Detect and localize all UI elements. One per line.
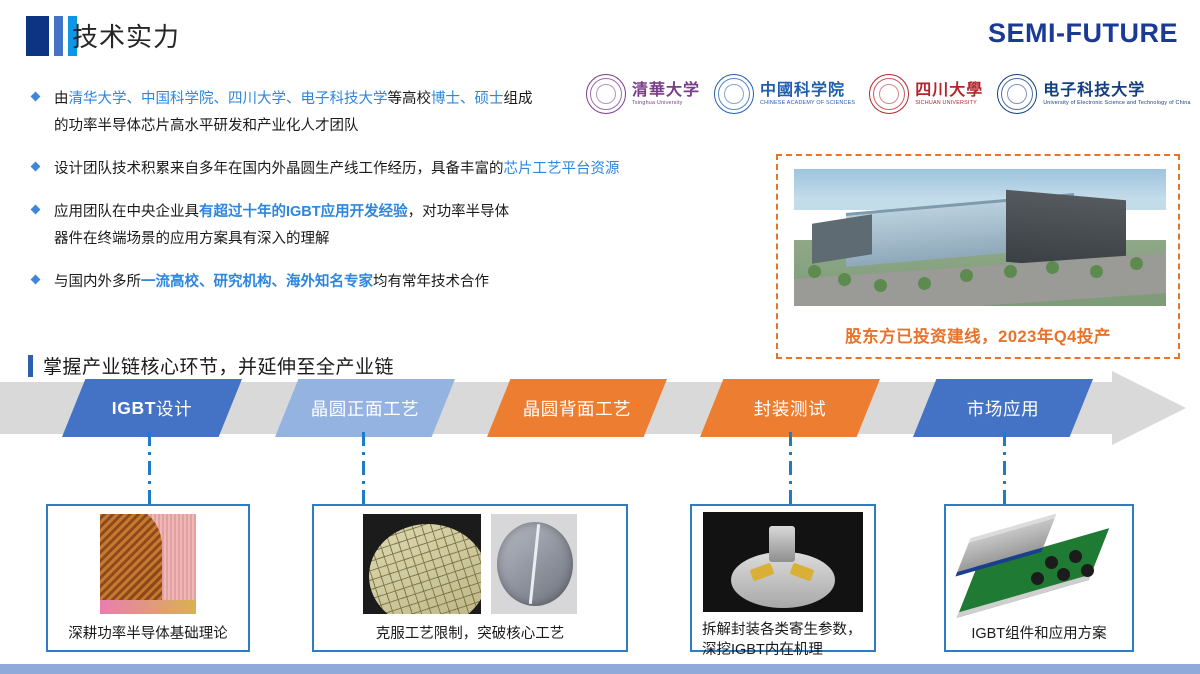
tree-icon xyxy=(1130,257,1143,270)
connector-segment xyxy=(1003,432,1006,446)
header-bar-dark-icon xyxy=(26,16,49,56)
university-name-cn: 清華大学 xyxy=(632,82,700,98)
fab-investment-panel: 股东方已投资建线，2023年Q4投产 xyxy=(776,154,1180,359)
university-seal-icon xyxy=(714,74,754,114)
process-arrow-head-icon xyxy=(1112,371,1186,445)
bullet-line: 的功率半导体芯片高水平研发和产业化人才团队 xyxy=(54,113,628,140)
bullet-diamond-icon xyxy=(31,162,41,172)
connector-line xyxy=(362,432,365,504)
bullet-item: 与国内外多所一流高校、研究机构、海外知名专家均有常年技术合作 xyxy=(28,269,628,296)
university-name-en: CHINESE ACADEMY OF SCIENCES xyxy=(760,101,855,106)
card-media xyxy=(946,506,1132,622)
university-seal-icon xyxy=(586,74,626,114)
card-caption: 深耕功率半导体基础理论 xyxy=(48,622,248,650)
university-name-cn: 电子科技大学 xyxy=(1043,82,1190,98)
card-caption: IGBT组件和应用方案 xyxy=(946,622,1132,650)
connector-line xyxy=(789,432,792,504)
bond-lead-icon xyxy=(790,563,815,582)
tree-icon xyxy=(838,273,851,286)
bullet-line: 设计团队技术积累来自多年在国内外晶圆生产线工作经历，具备丰富的芯片工艺平台资源 xyxy=(54,156,628,183)
card-igbt-design[interactable]: 深耕功率半导体基础理论 xyxy=(46,504,250,652)
card-media xyxy=(48,506,248,622)
connector-segment xyxy=(789,432,792,446)
connector-segment xyxy=(1003,490,1006,504)
footer-bar xyxy=(0,664,1200,674)
bullet-text-highlight: 有超过十年的IGBT应用开发经验 xyxy=(199,204,408,220)
module-capacitor-icon xyxy=(1069,550,1082,563)
card-media xyxy=(314,506,626,622)
university-logo: 中國科学院CHINESE ACADEMY OF SCIENCES xyxy=(714,74,855,114)
connector-segment xyxy=(1003,461,1006,475)
connector-segment xyxy=(362,490,365,504)
bullet-diamond-icon xyxy=(31,92,41,102)
bullet-line: 器件在终端场景的应用方案具有深入的理解 xyxy=(54,226,628,253)
bullet-diamond-icon xyxy=(31,205,41,215)
connector-segment xyxy=(789,461,792,475)
process-step-5[interactable]: 市场应用 xyxy=(913,379,1093,437)
process-step-3[interactable]: 晶圆背面工艺 xyxy=(487,379,667,437)
connector-line xyxy=(148,432,151,504)
bullet-text: 设计团队技术积累来自多年在国内外晶圆生产线工作经历，具备丰富的 xyxy=(54,161,504,177)
bullet-item: 设计团队技术积累来自多年在国内外晶圆生产线工作经历，具备丰富的芯片工艺平台资源 xyxy=(28,156,628,183)
connector-segment xyxy=(789,490,792,504)
bullet-line: 应用团队在中央企业具有超过十年的IGBT应用开发经验，对功率半导体 xyxy=(54,199,628,226)
header-bar-medium-icon xyxy=(54,16,63,56)
process-step-label: 市场应用 xyxy=(967,396,1039,421)
module-capacitor-icon xyxy=(1045,556,1058,569)
university-logo: 清華大学Tsinghua University xyxy=(586,74,700,114)
university-name-cn: 中國科学院 xyxy=(760,82,855,98)
bond-lead-icon xyxy=(750,563,775,582)
university-name-en: University of Electronic Science and Tec… xyxy=(1043,101,1190,106)
process-step-label: 晶圆背面工艺 xyxy=(523,396,632,421)
university-seal-icon xyxy=(997,74,1037,114)
connector-line xyxy=(1003,432,1006,504)
connector-segment xyxy=(362,432,365,446)
bullet-text: 均有常年技术合作 xyxy=(373,274,489,290)
process-step-2[interactable]: 晶圆正面工艺 xyxy=(275,379,455,437)
tree-icon xyxy=(1046,261,1059,274)
bullet-text-highlight: 芯片工艺平台资源 xyxy=(504,161,620,177)
silicon-wafer-photo-icon xyxy=(363,514,481,614)
module-capacitor-icon xyxy=(1057,568,1070,581)
process-step-label: 晶圆正面工艺 xyxy=(311,396,420,421)
tree-icon xyxy=(918,277,931,290)
connector-segment xyxy=(362,461,365,475)
module-capacitor-icon xyxy=(1031,572,1044,585)
bullet-line: 与国内外多所一流高校、研究机构、海外知名专家均有常年技术合作 xyxy=(54,269,628,296)
card-wafer-front-process[interactable]: 克服工艺限制，突破核心工艺 xyxy=(312,504,628,652)
university-logo: 电子科技大学University of Electronic Science a… xyxy=(997,74,1190,114)
tree-icon xyxy=(1004,265,1017,278)
chip-die-photo-icon xyxy=(100,514,196,614)
process-step-label-bold: IGBT xyxy=(112,398,156,419)
fab-panel-caption: 股东方已投资建线，2023年Q4投产 xyxy=(778,323,1178,347)
process-step-label: 封装测试 xyxy=(754,396,826,421)
brand-logo: SEMI-FUTURE xyxy=(988,18,1178,49)
university-name-cn: 四川大學 xyxy=(915,82,983,98)
bullet-line: 由清华大学、中国科学院、四川大学、电子科技大学等高校博士、硕士组成 xyxy=(54,86,628,113)
card-packaging-test[interactable]: 拆解封装各类寄生参数， 深挖IGBT内在机理 xyxy=(690,504,876,652)
page-title: 技术实力 xyxy=(72,19,180,55)
bullet-text-highlight: 博士、硕士 xyxy=(431,91,504,107)
connector-segment xyxy=(148,461,151,475)
tree-icon xyxy=(960,269,973,282)
card-market-application[interactable]: IGBT组件和应用方案 xyxy=(944,504,1134,652)
bullet-text: 应用团队在中央企业具 xyxy=(54,204,199,220)
bullet-text: 等高校 xyxy=(388,91,432,107)
header-accent-bars xyxy=(26,16,77,56)
bullet-text: 的功率半导体芯片高水平研发和产业化人才团队 xyxy=(54,118,359,134)
bullet-text: 组成 xyxy=(504,91,533,107)
process-step-4[interactable]: 封装测试 xyxy=(700,379,880,437)
igbt-module-render-icon xyxy=(953,516,1125,612)
university-name-en: Tsinghua University xyxy=(632,101,700,106)
bullet-text-highlight: 一流高校、研究机构、海外知名专家 xyxy=(141,274,373,290)
slide-root: 技术实力 SEMI-FUTURE 由清华大学、中国科学院、四川大学、电子科技大学… xyxy=(0,0,1200,674)
card-caption-line2: 深挖IGBT内在机理 xyxy=(692,640,874,666)
process-step-1[interactable]: IGBT设计 xyxy=(62,379,242,437)
university-name-en: SICHUAN UNIVERSITY xyxy=(915,101,983,106)
module-capacitor-icon xyxy=(1081,564,1094,577)
die-bonder-photo-icon xyxy=(703,512,863,612)
bullet-text: 与国内外多所 xyxy=(54,274,141,290)
bullet-text: 器件在终端场景的应用方案具有深入的理解 xyxy=(54,231,330,247)
card-caption-line1: 拆解封装各类寄生参数， xyxy=(692,618,874,640)
connector-segment xyxy=(148,490,151,504)
fab-building-image xyxy=(794,169,1166,306)
bullet-diamond-icon xyxy=(31,275,41,285)
tree-icon xyxy=(874,279,887,292)
tree-icon xyxy=(808,265,821,278)
card-caption: 克服工艺限制，突破核心工艺 xyxy=(314,622,626,650)
tree-icon xyxy=(1090,265,1103,278)
connector-segment xyxy=(148,432,151,446)
university-seal-icon xyxy=(869,74,909,114)
process-arrow-band: IGBT设计晶圆正面工艺晶圆背面工艺封装测试市场应用 xyxy=(0,382,1200,434)
bullet-text: 由 xyxy=(54,91,69,107)
bullet-text: ，对功率半导体 xyxy=(408,204,510,220)
wafer-disc-photo-icon xyxy=(491,514,577,614)
bullet-text-highlight: 清华大学、中国科学院、四川大学、电子科技大学 xyxy=(69,91,388,107)
card-media xyxy=(692,506,874,618)
university-logo: 四川大學SICHUAN UNIVERSITY xyxy=(869,74,983,114)
section-accent-bar-icon xyxy=(28,355,33,377)
section-heading-label: 掌握产业链核心环节，并延伸至全产业链 xyxy=(43,352,394,379)
section-heading: 掌握产业链核心环节，并延伸至全产业链 xyxy=(28,352,394,379)
bullet-list: 由清华大学、中国科学院、四川大学、电子科技大学等高校博士、硕士组成的功率半导体芯… xyxy=(28,86,628,312)
process-step-label: 设计 xyxy=(156,396,192,421)
university-logo-row: 清華大学Tsinghua University中國科学院CHINESE ACAD… xyxy=(586,74,1191,114)
bullet-item: 应用团队在中央企业具有超过十年的IGBT应用开发经验，对功率半导体器件在终端场景… xyxy=(28,199,628,253)
bullet-item: 由清华大学、中国科学院、四川大学、电子科技大学等高校博士、硕士组成的功率半导体芯… xyxy=(28,86,628,140)
